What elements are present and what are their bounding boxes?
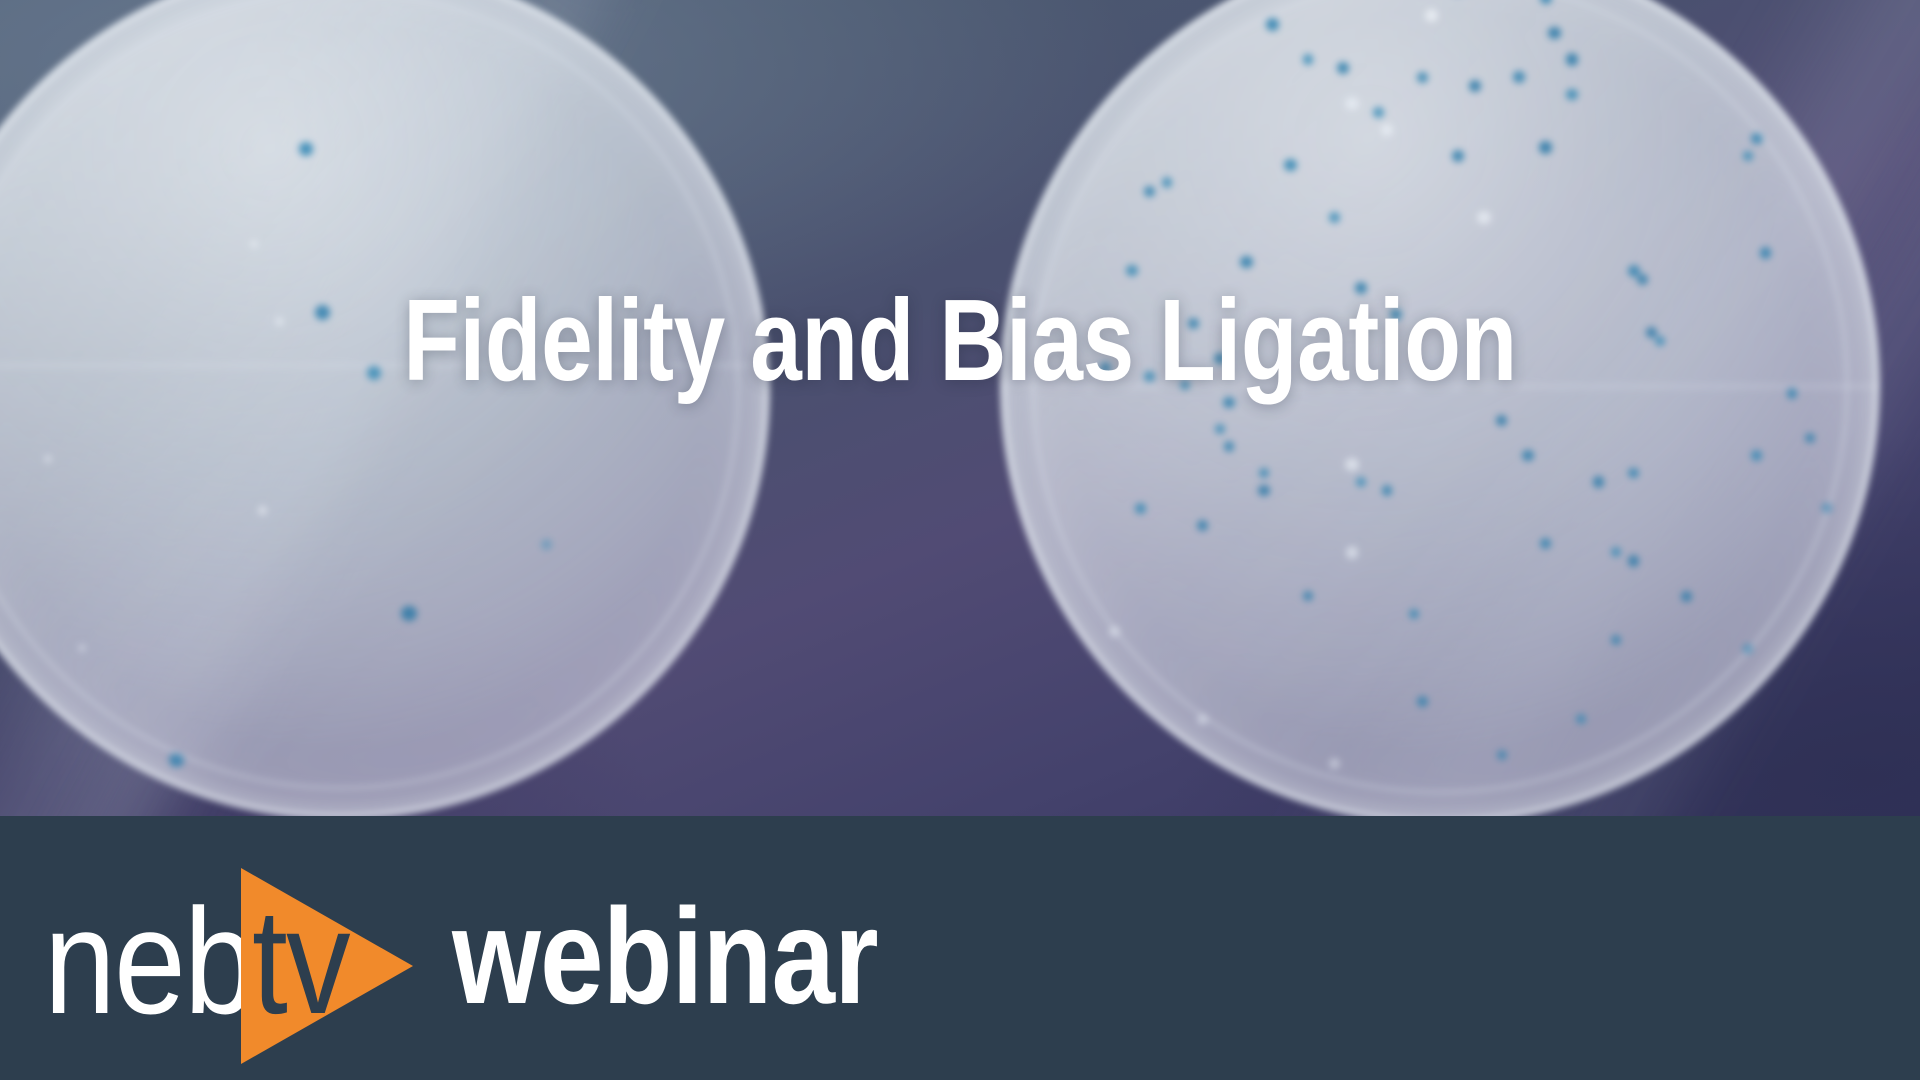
video-thumbnail: Fidelity and Bias Ligation neb tv webina…: [0, 0, 1920, 1080]
neb-wordmark: neb: [44, 886, 254, 1036]
dish-outer-rim: [1000, 0, 1880, 816]
petri-dish-left: [0, 0, 770, 816]
bacterial-colony: [1813, 697, 1823, 707]
footer-bar: neb tv webinar: [0, 816, 1920, 1080]
background-photo: [0, 0, 1920, 816]
petri-dish-right: [1000, 0, 1880, 816]
bacterial-colony: [1699, 759, 1709, 769]
tv-wordmark: tv: [252, 886, 349, 1036]
webinar-label: webinar: [452, 888, 878, 1024]
petri-dishes-group: [0, 0, 1920, 816]
page-title: Fidelity and Bias Ligation: [192, 282, 1728, 398]
dish-outer-rim: [0, 0, 770, 816]
